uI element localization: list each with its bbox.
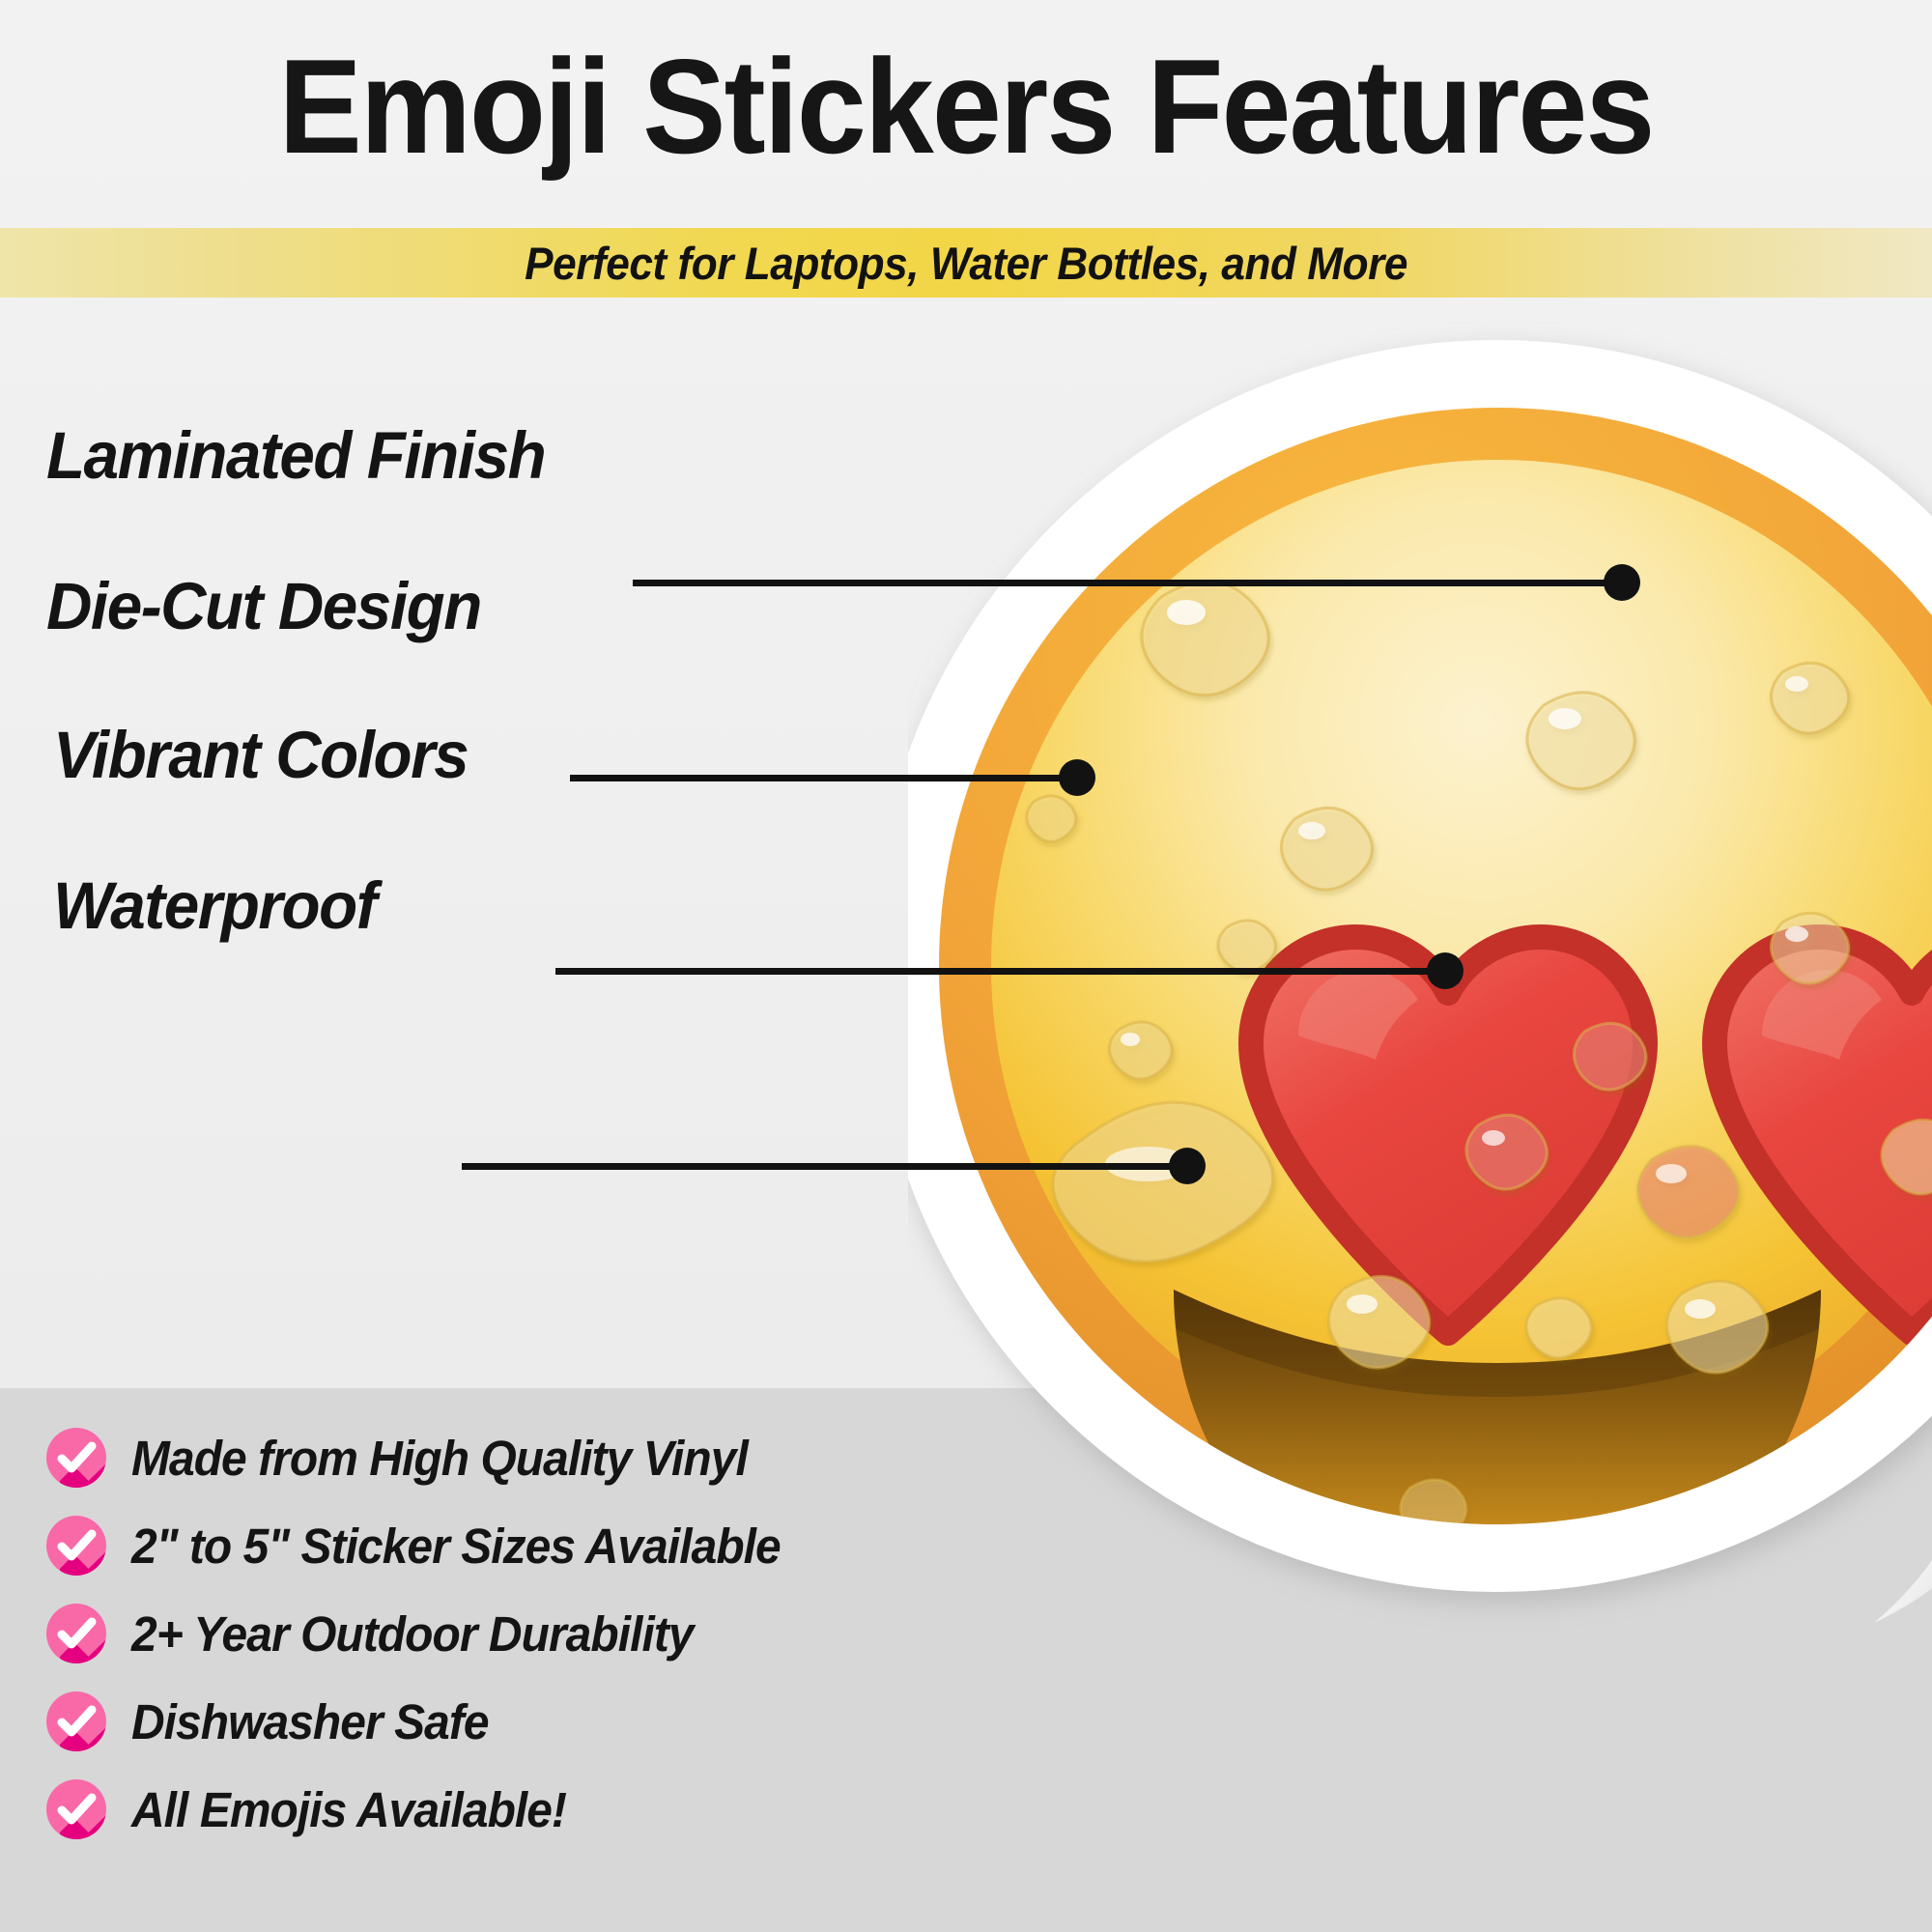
feature-callout-vibrant-colors: Vibrant Colors <box>53 717 490 793</box>
list-item: Dishwasher Safe <box>46 1686 822 1757</box>
feature-label: Die-Cut Design <box>46 568 481 644</box>
check-circle-icon <box>46 1779 106 1839</box>
page-title: Emoji Stickers Features <box>68 35 1864 180</box>
list-item-label: Dishwasher Safe <box>131 1693 489 1750</box>
check-circle-icon <box>46 1516 106 1576</box>
list-item-label: All Emojis Available! <box>131 1781 566 1838</box>
feature-label: Laminated Finish <box>46 417 545 494</box>
check-circle-icon <box>46 1691 106 1751</box>
subtitle-banner: Perfect for Laptops, Water Bottles, and … <box>0 228 1932 298</box>
check-circle-icon <box>46 1428 106 1488</box>
leader-line-waterproof <box>462 1163 1196 1170</box>
leader-dot-vibrant-colors <box>1427 952 1463 989</box>
leader-line-die-cut-design <box>570 775 1082 781</box>
feature-callout-laminated-finish: Laminated Finish <box>46 417 571 494</box>
list-item-label: Made from High Quality Vinyl <box>131 1430 748 1487</box>
features-checklist: Made from High Quality Vinyl 2" to 5" St… <box>46 1422 822 1861</box>
background-upper <box>0 0 1932 1388</box>
list-item-label: 2" to 5" Sticker Sizes Available <box>131 1518 781 1575</box>
list-item: 2" to 5" Sticker Sizes Available <box>46 1510 822 1581</box>
check-circle-icon <box>46 1604 106 1663</box>
feature-callout-waterproof: Waterproof <box>53 867 393 944</box>
list-item: 2+ Year Outdoor Durability <box>46 1598 822 1669</box>
infographic-canvas: Emoji Stickers Features Perfect for Lapt… <box>0 0 1932 1932</box>
feature-label: Waterproof <box>53 867 376 944</box>
leader-dot-waterproof <box>1169 1148 1206 1184</box>
leader-line-vibrant-colors <box>555 968 1454 975</box>
feature-label: Vibrant Colors <box>53 717 468 793</box>
leader-dot-die-cut-design <box>1059 759 1095 796</box>
leader-dot-laminated-finish <box>1604 564 1640 601</box>
feature-callout-die-cut-design: Die-Cut Design <box>46 568 504 644</box>
list-item: All Emojis Available! <box>46 1774 822 1845</box>
leader-line-laminated-finish <box>633 580 1628 586</box>
list-item-label: 2+ Year Outdoor Durability <box>131 1605 694 1662</box>
page-subtitle: Perfect for Laptops, Water Bottles, and … <box>525 237 1407 290</box>
list-item: Made from High Quality Vinyl <box>46 1422 822 1493</box>
